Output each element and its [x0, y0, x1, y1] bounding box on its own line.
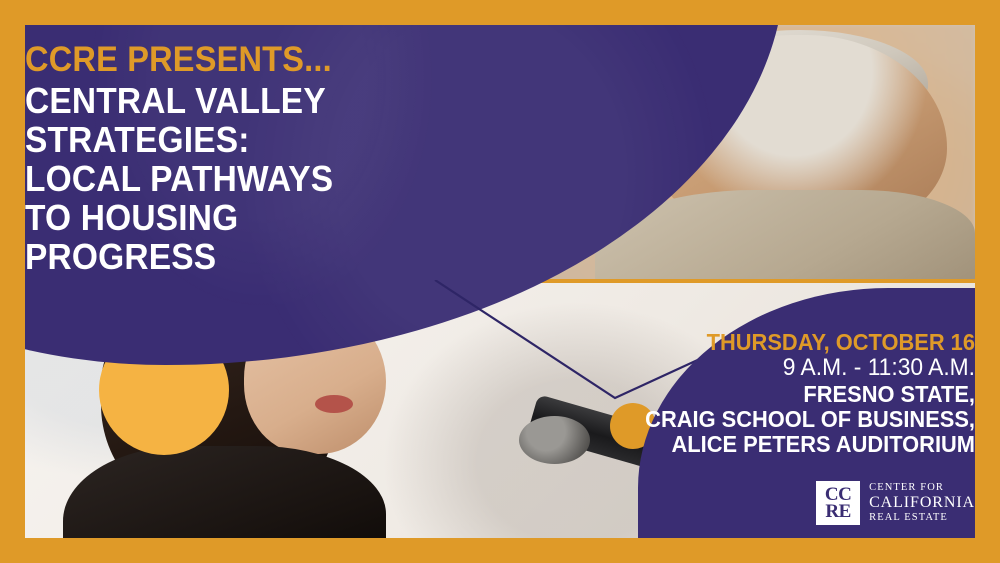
headline-title: CENTRAL VALLEY STRATEGIES: LOCAL PATHWAY…: [25, 83, 397, 275]
headline-line: CENTRAL VALLEY: [25, 83, 397, 119]
event-venue: FRESNO STATE, CRAIG SCHOOL OF BUSINESS, …: [595, 382, 975, 456]
headline-line: TO HOUSING: [25, 200, 397, 236]
event-details-block: THURSDAY, OCTOBER 16 9 A.M. - 11:30 A.M.…: [575, 330, 975, 457]
ccre-mark-bottom: RE: [825, 503, 850, 520]
speaker-lips: [315, 395, 353, 413]
ccre-logo-mark: CC RE: [816, 481, 860, 525]
ccre-wordmark-line2: CALIFORNIA: [869, 494, 975, 512]
headline-line: PROGRESS: [25, 239, 397, 275]
headline-line: STRATEGIES:: [25, 122, 397, 158]
venue-line: FRESNO STATE,: [595, 382, 975, 407]
ccre-wordmark-line1: CENTER FOR: [869, 482, 975, 494]
event-promo-poster: CCRE PRESENTS... CENTRAL VALLEY STRATEGI…: [0, 0, 1000, 563]
headline-block: CCRE PRESENTS... CENTRAL VALLEY STRATEGI…: [25, 42, 425, 278]
speaker-jacket: [63, 446, 386, 538]
venue-line: ALICE PETERS AUDITORIUM: [595, 432, 975, 457]
headline-kicker: CCRE PRESENTS...: [25, 42, 397, 77]
headline-line: LOCAL PATHWAYS: [25, 161, 397, 197]
event-time: 9 A.M. - 11:30 A.M.: [595, 354, 975, 382]
ccre-wordmark-line3: REAL ESTATE: [869, 512, 975, 524]
venue-line: CRAIG SCHOOL OF BUSINESS,: [595, 407, 975, 432]
event-date: THURSDAY, OCTOBER 16: [595, 330, 975, 354]
ccre-logo: CC RE CENTER FOR CALIFORNIA REAL ESTATE: [816, 481, 975, 525]
ccre-logo-wordmark: CENTER FOR CALIFORNIA REAL ESTATE: [869, 482, 975, 524]
